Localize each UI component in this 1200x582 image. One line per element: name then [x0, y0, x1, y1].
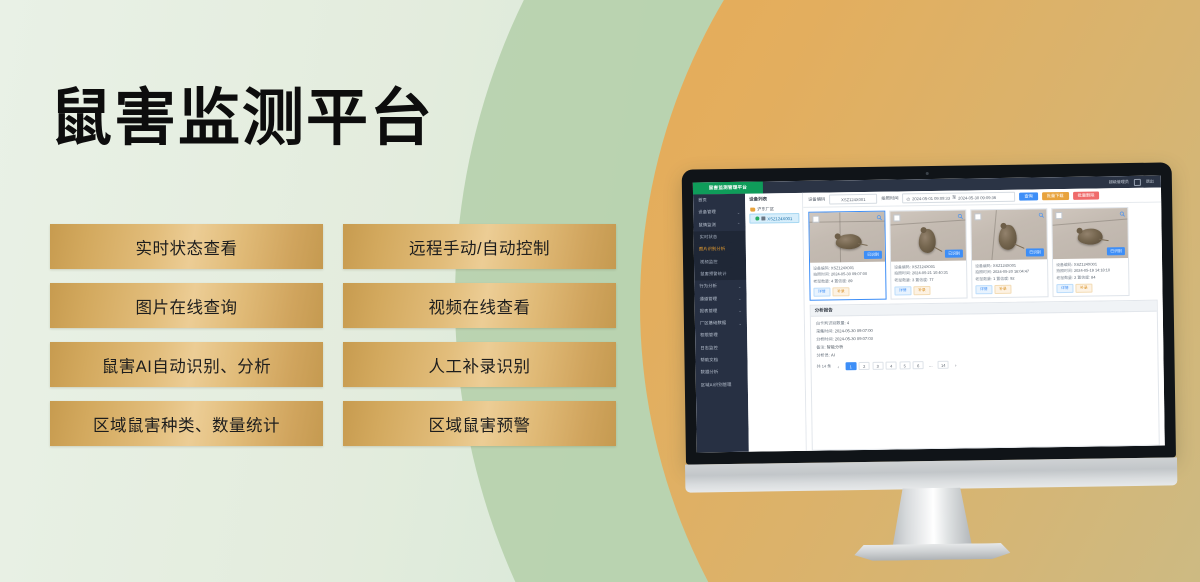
device-code-input[interactable]: XSZ124X001 [829, 194, 877, 205]
card-checkbox[interactable] [812, 215, 819, 222]
promo-panel: 鼠害监测平台 实时状态查看 远程手动/自动控制 图片在线查询 视频在线查看 鼠害… [0, 0, 640, 582]
device-code-label: 设备编码 [808, 197, 825, 203]
image-card[interactable]: 已识别 设备编码: XSZ124X001 拍照时间: 2024-05-19 14… [1051, 207, 1129, 297]
app-sidebar[interactable]: 首页 设备管理 ⌄ 鼠情监测 ⌃ 实时状态 [693, 194, 749, 453]
card-info: 设备编码: XSZ124X001 拍照时间: 2024-05-20 16:04:… [972, 259, 1048, 297]
card-info: 设备编码: XSZ124X001 拍照时间: 2024-05-19 14:18:… [1053, 258, 1129, 296]
sidebar-item-behavior-analysis[interactable]: 行为分析 ⌄ [694, 280, 746, 293]
app-logo: 鼠害监测管理平台 [693, 181, 763, 194]
image-card-list: 已识别 设备编码: XSZ124X001 拍照时间: 2024-05-30 09… [803, 203, 1162, 304]
sidebar-item-image-analysis[interactable]: 图片识别分析 [694, 243, 746, 256]
date-range-input[interactable]: ◴ 2024-05-01 09:09:33 至 2024-05-30 09:09… [902, 192, 1015, 204]
calendar-icon: ◴ [906, 196, 910, 201]
card-device-code-label: 设备编码: [975, 263, 992, 268]
sidebar-item-realtime-status[interactable]: 实时状态 [694, 231, 746, 244]
card-count-value: 1 [993, 276, 995, 281]
device-node-label: 沪东厂区 [757, 206, 774, 212]
batch-download-button[interactable]: 批量下载 [1042, 192, 1069, 201]
sidebar-item-report-management[interactable]: 报表管理 ⌄ [695, 304, 747, 317]
chevron-down-icon: ⌄ [738, 320, 742, 325]
main-content: 设备编码 XSZ124X001 拍照时间 ◴ 2024-05-01 09:09:… [803, 188, 1165, 451]
card-view-button[interactable]: 详情 [975, 285, 992, 294]
card-device-code-label: 设备编码: [1056, 261, 1073, 266]
sidebar-item-log-monitor[interactable]: 日志监控 [695, 341, 747, 354]
device-node-label: XSZ124X001 [767, 216, 792, 221]
report-label: 采集时间: [816, 328, 834, 333]
card-photo[interactable]: 已识别 [890, 210, 966, 261]
card-device-code-value: XSZ124X001 [993, 262, 1016, 267]
sidebar-item-help-docs[interactable]: 帮助文档 [695, 354, 747, 367]
card-checkbox[interactable] [1055, 212, 1062, 219]
card-count-row: 老鼠数量: 3 置信度: 77 [894, 277, 963, 285]
card-time-value: 2024-05-30 09:07:00 [831, 271, 867, 277]
card-device-code-value: XSZ124X001 [831, 265, 854, 270]
status-badge: 已识别 [1026, 249, 1044, 257]
monitor-stand-neck [891, 487, 972, 548]
feature-chip-area-statistics[interactable]: 区域鼠害种类、数量统计 [50, 401, 323, 446]
image-card[interactable]: 已识别 设备编码: XSZ124X001 拍照时间: 2024-05-20 16… [970, 208, 1048, 298]
card-edit-button[interactable]: 补录 [994, 285, 1011, 294]
sidebar-item-label: 鼠害预警统计 [700, 271, 726, 277]
report-value: 智能分析 [827, 344, 843, 349]
batch-delete-button[interactable]: 批量删除 [1073, 191, 1100, 200]
sidebar-item-label: 区域AI识别管理 [701, 382, 732, 388]
card-count-row: 老鼠数量: 4 置信度: 89 [813, 278, 882, 286]
pagination-page-2[interactable]: 2 [859, 362, 870, 371]
card-time-label: 拍照时间: [1056, 268, 1073, 273]
card-edit-button[interactable]: 补录 [833, 287, 850, 296]
card-device-code-value: XSZ124X001 [912, 263, 935, 268]
feature-chip-image-query[interactable]: 图片在线查询 [50, 283, 323, 328]
sidebar-item-rodent-monitoring[interactable]: 鼠情监测 ⌃ [693, 218, 745, 231]
logout-button[interactable]: 退出 [1146, 179, 1154, 185]
image-card[interactable]: 已识别 设备编码: XSZ124X001 拍照时间: 2024-05-21 10… [889, 209, 967, 299]
pagination[interactable]: 共 14 条 ‹ 1 2 3 4 5 6 … 14 [817, 358, 1153, 371]
monitor-stand-base [854, 543, 1010, 561]
card-checkbox[interactable] [974, 213, 981, 220]
zoom-icon[interactable] [1119, 211, 1125, 217]
status-badge: 已识别 [1107, 248, 1125, 256]
card-time-label: 拍照时间: [975, 269, 992, 274]
feature-chip-ai-recognition[interactable]: 鼠害AI自动识别、分析 [50, 342, 323, 387]
card-photo[interactable]: 已识别 [809, 212, 885, 263]
device-tree-device-node[interactable]: XSZ124X001 [749, 213, 799, 224]
card-score-value: 77 [929, 277, 933, 282]
report-label: 分析时间: [816, 336, 834, 341]
monitor-screen: 鼠害监测管理平台 超级管理员 退出 首页 [693, 176, 1165, 453]
card-device-code-value: XSZ124X001 [1074, 261, 1097, 266]
card-checkbox[interactable] [893, 214, 900, 221]
chevron-down-icon: ⌄ [738, 284, 742, 289]
app-window: 鼠害监测管理平台 超级管理员 退出 首页 [693, 176, 1165, 453]
status-badge: 已识别 [864, 251, 882, 259]
zoom-icon[interactable] [876, 214, 882, 220]
image-card[interactable]: 已识别 设备编码: XSZ124X001 拍照时间: 2024-05-30 09… [808, 211, 886, 301]
date-range-separator: 至 [952, 195, 956, 201]
report-value: AI [831, 352, 835, 357]
card-time-value: 2024-05-21 10:40:31 [912, 270, 948, 276]
sidebar-item-label: 视频监控 [700, 259, 718, 265]
sidebar-item-label: 鼠情监测 [698, 222, 716, 228]
sidebar-item-plant-base-data[interactable]: 厂区基础数据 ⌄ [695, 317, 747, 330]
pagination-prev[interactable]: ‹ [834, 363, 843, 370]
card-photo[interactable]: 已识别 [1052, 208, 1128, 259]
device-tree-panel[interactable]: 设备列表 沪东厂区 XSZ124X001 [745, 193, 807, 452]
sidebar-item-label: 数据分析 [701, 369, 719, 375]
feature-chip-remote-control[interactable]: 远程手动/自动控制 [343, 224, 616, 269]
feature-chip-manual-entry[interactable]: 人工补录识别 [343, 342, 616, 387]
sidebar-item-label: 日志监控 [700, 345, 718, 351]
folder-icon [750, 208, 755, 212]
fullscreen-icon[interactable] [1134, 178, 1141, 185]
card-actions: 详情 补录 [975, 284, 1044, 294]
sidebar-item-data-analysis[interactable]: 数据分析 [696, 366, 748, 379]
card-count-row: 老鼠数量: 1 置信度: 92 [975, 275, 1044, 283]
app-body: 首页 设备管理 ⌄ 鼠情监测 ⌃ 实时状态 [693, 188, 1165, 453]
pagination-ellipsis: … [926, 362, 935, 369]
chevron-down-icon: ⌄ [737, 210, 741, 215]
card-edit-button[interactable]: 补录 [1075, 284, 1092, 293]
zoom-icon[interactable] [957, 213, 963, 219]
feature-chip-realtime-status[interactable]: 实时状态查看 [50, 224, 323, 269]
pagination-page-5[interactable]: 5 [899, 361, 910, 370]
chevron-up-icon: ⌃ [737, 222, 741, 227]
report-value: 2024-05-30 09:07:00 [835, 328, 873, 334]
sidebar-item-label: 设备管理 [698, 210, 716, 216]
card-view-button[interactable]: 详情 [1056, 284, 1073, 293]
card-count-row: 老鼠数量: 2 置信度: 84 [1056, 274, 1125, 282]
card-score-label: 置信度: [996, 276, 1009, 281]
card-actions: 详情 补录 [1056, 283, 1125, 293]
card-time-label: 拍照时间: [813, 272, 830, 277]
status-online-icon [755, 217, 759, 221]
card-score-value: 92 [1010, 276, 1014, 281]
report-value: 4 [847, 320, 849, 325]
banner-stage: 鼠害监测平台 实时状态查看 远程手动/自动控制 图片在线查询 视频在线查看 鼠害… [0, 0, 1200, 582]
chevron-down-icon: ⌄ [738, 296, 742, 301]
chevron-down-icon: ⌄ [738, 308, 742, 313]
card-count-value: 3 [912, 277, 914, 282]
sidebar-item-label: 报表管理 [700, 308, 718, 314]
page-title: 鼠害监测平台 [50, 88, 434, 150]
card-score-value: 84 [1091, 275, 1095, 280]
feature-grid: 实时状态查看 远程手动/自动控制 图片在线查询 视频在线查看 鼠害AI自动识别、… [50, 224, 616, 446]
sidebar-item-label: 实时状态 [700, 234, 718, 240]
photo-time-label: 拍照时间 [881, 195, 898, 201]
feature-chip-area-warning[interactable]: 区域鼠害预警 [343, 401, 616, 446]
card-count-value: 2 [1074, 275, 1076, 280]
sidebar-item-home[interactable]: 首页 [693, 194, 745, 207]
card-view-button[interactable]: 详情 [894, 286, 911, 295]
card-time-label: 拍照时间: [894, 271, 911, 276]
card-count-label: 老鼠数量: [975, 276, 992, 281]
report-label: 分析员: [816, 352, 829, 357]
zoom-icon[interactable] [1038, 212, 1044, 218]
card-time-value: 2024-05-20 16:04:47 [993, 269, 1029, 275]
sidebar-item-area-ai-management[interactable]: 区域AI识别管理 [696, 378, 748, 391]
sidebar-item-video-monitor[interactable]: 视频监控 [694, 255, 746, 268]
current-user-label: 超级管理员 [1109, 179, 1129, 185]
sidebar-item-warning-statistics[interactable]: 鼠害预警统计 [694, 268, 746, 281]
card-score-label: 置信度: [915, 277, 928, 282]
pagination-last-page[interactable]: 14 [938, 361, 949, 370]
card-count-label: 老鼠数量: [1056, 275, 1073, 280]
sidebar-item-label: 首页 [698, 197, 707, 203]
device-tree-title: 设备列表 [749, 196, 799, 203]
sidebar-item-label: 行为分析 [699, 283, 717, 289]
pagination-next[interactable]: › [951, 361, 960, 368]
card-actions: 详情 补录 [894, 285, 963, 295]
pagination-total: 共 14 条 [817, 364, 832, 370]
pagination-page-4[interactable]: 4 [886, 361, 897, 370]
sidebar-item-label: 厂区基础数据 [700, 320, 726, 326]
card-info: 设备编码: XSZ124X001 拍照时间: 2024-05-30 09:07:… [810, 262, 886, 300]
report-value: 2024-05-30 09:07:03 [835, 336, 873, 342]
card-count-label: 老鼠数量: [894, 277, 911, 282]
card-time-value: 2024-05-19 14:18:10 [1074, 268, 1110, 274]
sidebar-item-label: 通道管理 [700, 296, 718, 302]
sidebar-item-channel-management[interactable]: 通道管理 ⌄ [694, 292, 746, 305]
search-button[interactable]: 查询 [1019, 192, 1038, 201]
status-badge: 已识别 [945, 250, 963, 258]
sidebar-item-label: 帮助文档 [700, 357, 718, 363]
date-range-end: 2024-05-30 09:09:36 [958, 195, 996, 201]
webcam-icon [925, 172, 928, 175]
card-count-label: 老鼠数量: [813, 279, 830, 284]
feature-chip-video-view[interactable]: 视频在线查看 [343, 283, 616, 328]
pagination-page-1[interactable]: 1 [845, 362, 856, 371]
sidebar-item-device-management[interactable]: 设备管理 ⌄ [693, 206, 745, 219]
date-range-start: 2024-05-01 09:09:33 [912, 195, 950, 201]
sidebar-item-label: 图片识别分析 [699, 246, 725, 252]
report-label: 备注: [816, 344, 825, 349]
sidebar-item-permission-management[interactable]: 权限管理 [695, 329, 747, 342]
monitor-mockup: 鼠害监测管理平台 超级管理员 退出 首页 [682, 162, 1176, 464]
card-actions: 详情 补录 [813, 287, 882, 297]
camera-icon [761, 216, 765, 220]
app-header-right: 超级管理员 退出 [1109, 178, 1161, 186]
pagination-page-3[interactable]: 3 [872, 362, 883, 371]
card-device-code-label: 设备编码: [894, 264, 911, 269]
card-edit-button[interactable]: 补录 [913, 286, 930, 295]
card-score-label: 置信度: [834, 278, 847, 283]
analysis-report-body: 白卡判识别数量: 4 采集时间: 2024-05-30 09:07:00 分析时… [811, 312, 1158, 374]
card-score-value: 89 [848, 278, 852, 283]
pagination-page-6[interactable]: 6 [913, 361, 924, 370]
card-count-value: 4 [831, 279, 833, 284]
card-photo[interactable]: 已识别 [971, 209, 1047, 260]
card-device-code-label: 设备编码: [813, 265, 830, 270]
sidebar-item-label: 权限管理 [700, 333, 718, 339]
card-view-button[interactable]: 详情 [813, 287, 830, 296]
report-label: 白卡判识别数量: [816, 320, 846, 325]
analysis-report-panel: 分析报告 白卡判识别数量: 4 采集时间: 2024-05-30 09:07:0… [810, 300, 1160, 451]
card-info: 设备编码: XSZ124X001 拍照时间: 2024-05-21 10:40:… [891, 260, 967, 298]
card-score-label: 置信度: [1077, 275, 1090, 280]
